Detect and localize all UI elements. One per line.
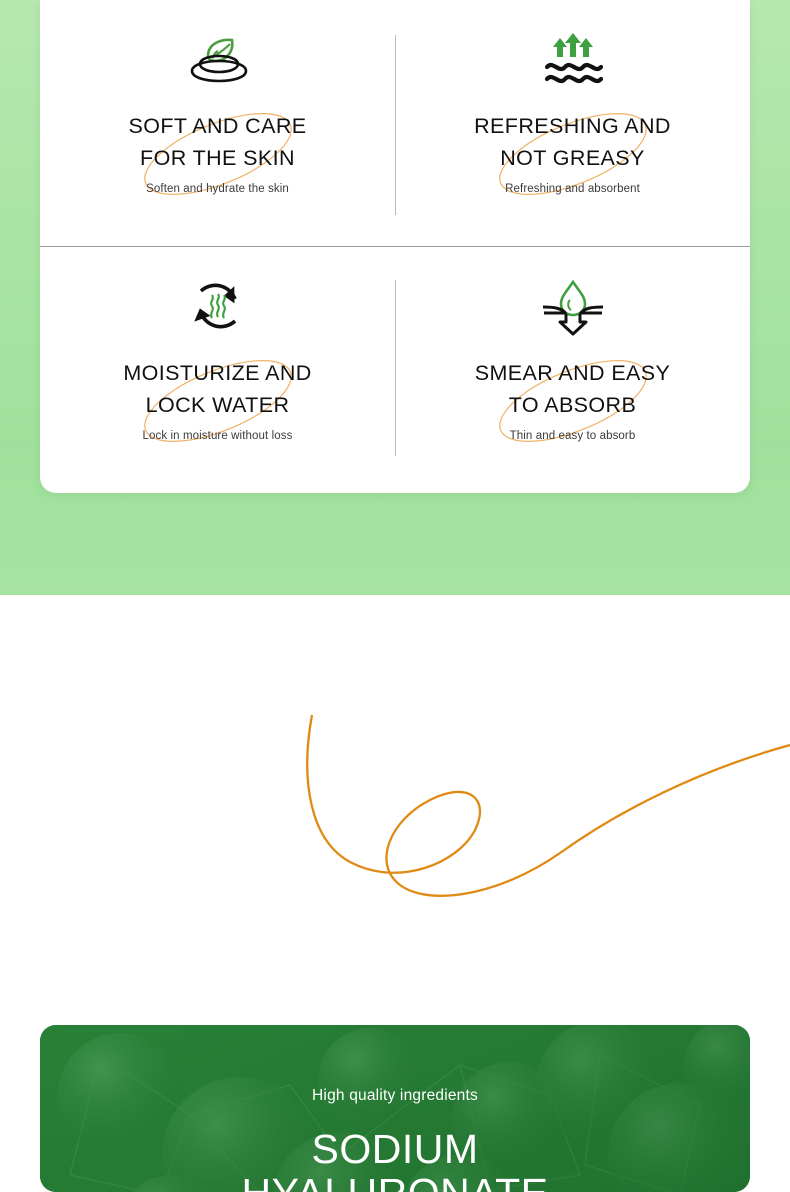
feature-text: SOFT AND CARE FOR THE SKIN Soften and hy… (40, 110, 395, 195)
feature-subtitle: Refreshing and absorbent (505, 183, 640, 195)
feature-card-refreshing[interactable]: REFRESHING AND NOT GREASY Refreshing and… (395, 0, 750, 246)
orange-swirl-decoration (0, 595, 790, 1020)
feature-card-moisturize[interactable]: MOISTURIZE AND LOCK WATER Lock in moistu… (40, 247, 395, 493)
feature-title: SMEAR AND EASY TO ABSORB (475, 357, 671, 422)
feature-title: REFRESHING AND NOT GREASY (474, 110, 671, 175)
feature-row: MOISTURIZE AND LOCK WATER Lock in moistu… (40, 247, 750, 493)
feature-text: MOISTURIZE AND LOCK WATER Lock in moistu… (40, 357, 395, 442)
feature-title-line2: NOT GREASY (500, 146, 645, 170)
banner-kicker: High quality ingredients (312, 1087, 478, 1105)
feature-subtitle: Thin and easy to absorb (510, 430, 636, 442)
arrows-waves-icon (537, 32, 609, 88)
feature-title: MOISTURIZE AND LOCK WATER (123, 357, 311, 422)
recycle-moisture-icon (188, 279, 248, 335)
feature-title-line2: TO ABSORB (509, 393, 636, 417)
banner-content: High quality ingredients SODIUM HYALURON… (40, 1025, 750, 1192)
features-section: SOFT AND CARE FOR THE SKIN Soften and hy… (0, 0, 790, 595)
leaf-ripple-icon (182, 32, 254, 88)
feature-title-line1: REFRESHING AND (474, 114, 671, 138)
feature-title-line2: FOR THE SKIN (140, 146, 295, 170)
feature-card-smear-absorb[interactable]: SMEAR AND EASY TO ABSORB Thin and easy t… (395, 247, 750, 493)
feature-subtitle: Lock in moisture without loss (143, 430, 293, 442)
ingredients-heading-section: TOGETHER TO HELP CARE FOR THE SKIN VARIO… (0, 595, 790, 1020)
features-card: SOFT AND CARE FOR THE SKIN Soften and hy… (40, 0, 750, 493)
feature-subtitle: Soften and hydrate the skin (146, 183, 289, 195)
banner-title-line2: HYALURONATE (242, 1171, 549, 1192)
feature-title: SOFT AND CARE FOR THE SKIN (128, 110, 306, 175)
feature-title-line2: LOCK WATER (146, 393, 290, 417)
feature-title-line1: MOISTURIZE AND (123, 361, 311, 385)
ingredient-banner[interactable]: High quality ingredients SODIUM HYALURON… (40, 1025, 750, 1192)
feature-text: REFRESHING AND NOT GREASY Refreshing and… (395, 110, 750, 195)
droplet-absorb-icon (538, 279, 608, 335)
feature-title-line1: SMEAR AND EASY (475, 361, 671, 385)
feature-row: SOFT AND CARE FOR THE SKIN Soften and hy… (40, 0, 750, 246)
feature-title-line1: SOFT AND CARE (128, 114, 306, 138)
banner-title-line1: SODIUM (312, 1127, 479, 1171)
feature-card-soft-and-care[interactable]: SOFT AND CARE FOR THE SKIN Soften and hy… (40, 0, 395, 246)
feature-text: SMEAR AND EASY TO ABSORB Thin and easy t… (395, 357, 750, 442)
